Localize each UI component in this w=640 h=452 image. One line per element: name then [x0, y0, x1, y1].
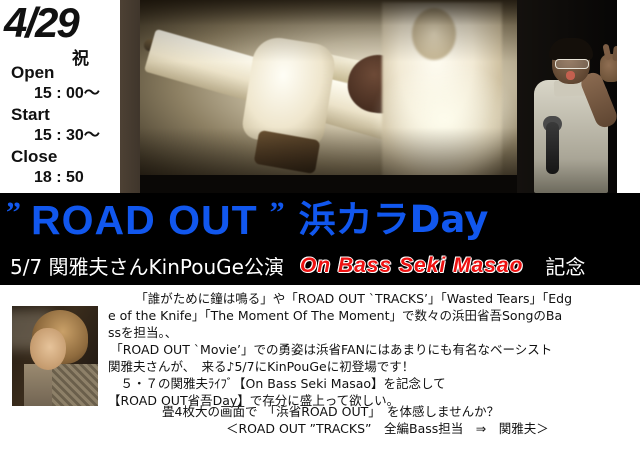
schedule-value-open: 15 : 00〜	[0, 83, 120, 104]
title-row: ” ROAD OUT ” 浜カラDay	[0, 193, 640, 246]
body-line: 畳4枚大の画面で 「浜省ROAD OUT」 を体感しませんか？	[104, 403, 640, 420]
page-title-japanese: 浜カラDay	[299, 195, 489, 245]
subtitle-row: 5/7 関雅夫さんKinPouGe公演 On Bass Seki Masao 記…	[0, 246, 640, 285]
flyer-poster: 4/29 祝 Open 15 : 00〜 Start 15 : 30〜 Clos…	[0, 0, 640, 452]
host-tongue	[566, 71, 575, 80]
paragraph-three: 畳4枚大の画面で 「浜省ROAD OUT」 を体感しませんか？ ＜ROAD OU…	[104, 403, 640, 437]
body-line: 「ROAD OUT `Movie’」での勇姿は浜省FANにはあまりにも有名なベー…	[104, 341, 640, 358]
schedule-label-start: Start	[0, 104, 120, 125]
page-title: ROAD OUT	[31, 195, 258, 245]
schedule-value-close: 18 : 50	[0, 167, 120, 188]
stage-projection-photo	[120, 0, 617, 193]
body-text-column: 「誰がために鐘は鳴る」や「ROAD OUT `TRACKS’」「Wasted T…	[104, 285, 640, 452]
schedule-label-open: Open	[0, 62, 120, 83]
portrait-vest	[52, 364, 98, 406]
body-line: ５・７の関雅夫ﾗｲﾌﾞ【On Bass Seki Masao】を記念して	[104, 375, 640, 392]
bassist-portrait-photo	[12, 306, 98, 406]
subtitle-highlight: On Bass Seki Masao	[300, 254, 523, 278]
glasses-icon	[555, 59, 589, 69]
title-band: ” ROAD OUT ” 浜カラDay 5/7 関雅夫さんKinPouGe公演 …	[0, 193, 640, 285]
event-date: 4/29	[4, 2, 78, 44]
paragraph-two: 「ROAD OUT `Movie’」での勇姿は浜省FANにはあまりにも有名なベー…	[104, 341, 640, 409]
photo-right-margin	[617, 0, 640, 193]
host-person	[528, 42, 617, 193]
quote-close: ”	[270, 198, 285, 228]
top-block: 4/29 祝 Open 15 : 00〜 Start 15 : 30〜 Clos…	[0, 0, 640, 193]
schedule-label-close: Close	[0, 146, 120, 167]
screen-vignette	[140, 0, 530, 182]
microphone-icon	[546, 122, 559, 174]
paragraph-one: 「誰がために鐘は鳴る」や「ROAD OUT `TRACKS’」「Wasted T…	[104, 290, 640, 341]
body-line: 「誰がために鐘は鳴る」や「ROAD OUT `TRACKS’」「Wasted T…	[104, 290, 640, 307]
date-panel: 4/29 祝 Open 15 : 00〜 Start 15 : 30〜 Clos…	[0, 0, 120, 193]
body-line: ＜ROAD OUT ”TRACKS” 全編Bass担当 ⇒ 関雅夫＞	[104, 420, 640, 437]
quote-open: ”	[6, 198, 21, 228]
schedule-value-start: 15 : 30〜	[0, 125, 120, 146]
schedule-list: Open 15 : 00〜 Start 15 : 30〜 Close 18 : …	[0, 62, 120, 188]
subtitle-right: 記念	[545, 251, 585, 280]
host-hair	[549, 38, 593, 60]
body-line: ssを担当。、	[104, 324, 640, 341]
body-line: e of the Knife」「The Moment Of The Moment…	[104, 307, 640, 324]
body-line: 関雅夫さんが、 来る♪5/7にKinPouGeに初登場です！	[104, 358, 640, 375]
portrait-face	[30, 328, 66, 370]
screen-bottom-edge	[140, 175, 530, 193]
body-area: 「誰がために鐘は鳴る」や「ROAD OUT `TRACKS’」「Wasted T…	[0, 285, 640, 452]
subtitle-left: 5/7 関雅夫さんKinPouGe公演	[10, 251, 284, 280]
